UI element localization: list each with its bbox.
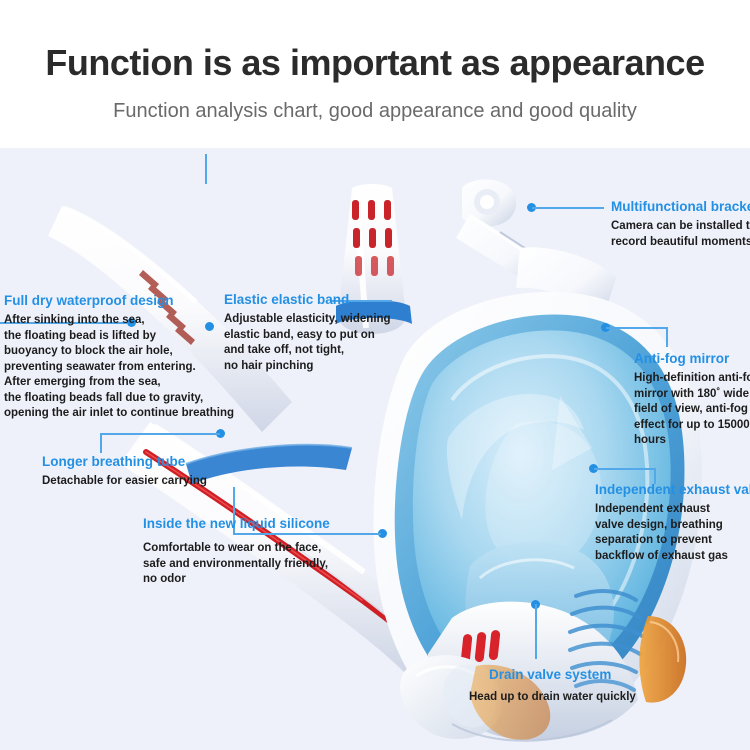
- callout-title: Independent exhaust valve: [595, 481, 750, 499]
- connector-line-exhaust-valve: [594, 468, 654, 470]
- callout-independent-exhaust-valve: Independent exhaust valve Independent ex…: [595, 481, 750, 564]
- callout-multifunctional-bracket: Multifunctional bracket Camera can be in…: [611, 198, 750, 250]
- callout-body: Camera can be installed to record beauti…: [611, 219, 750, 250]
- connector-line-bracket: [532, 207, 604, 209]
- callout-title: Elastic elastic band: [224, 291, 391, 309]
- callout-title: Longer breathing tube: [42, 453, 207, 471]
- head-strap: [186, 445, 352, 484]
- connector-line-breathing-tube: [100, 433, 220, 435]
- connector-line-anti-fog: [606, 327, 666, 329]
- callout-drain-valve-system: Drain valve system Head up to drain wate…: [489, 666, 636, 706]
- callout-body: Head up to drain water quickly: [469, 690, 636, 706]
- page-subtitle: Function analysis chart, good appearance…: [0, 98, 750, 124]
- callout-anti-fog-mirror: Anti-fog mirror High-definition anti-fog…: [634, 350, 750, 449]
- page-title: Function is as important as appearance: [0, 40, 750, 86]
- callout-longer-breathing-tube: Longer breathing tube Detachable for eas…: [42, 453, 207, 490]
- callout-elastic-elastic-band: Elastic elastic band Adjustable elastici…: [224, 291, 391, 374]
- infographic-canvas: Full dry waterproof design After sinking…: [0, 148, 750, 750]
- callout-title: Drain valve system: [489, 666, 636, 684]
- header: Function is as important as appearance F…: [0, 0, 750, 148]
- connector-stem-anti-fog: [666, 327, 668, 347]
- side-valve: [639, 616, 686, 703]
- callout-body: Independent exhaust valve design, breath…: [595, 502, 750, 564]
- callout-body: High-definition anti-fog mirror with 180…: [634, 371, 750, 449]
- camera-bracket: [456, 179, 616, 322]
- callout-title: Full dry waterproof design: [4, 292, 234, 310]
- callout-body: Adjustable elasticity, widening elastic …: [224, 312, 391, 374]
- callout-title: Anti-fog mirror: [634, 350, 750, 368]
- infographic-page: Function is as important as appearance F…: [0, 0, 750, 750]
- callout-full-dry-waterproof-design: Full dry waterproof design After sinking…: [4, 292, 234, 422]
- callout-body: After sinking into the sea, the floating…: [4, 313, 234, 422]
- connector-stem-elastic-band: [205, 154, 207, 184]
- intake-slots: [460, 630, 500, 665]
- connector-stem-drain-valve: [535, 604, 537, 659]
- callout-body: Detachable for easier carrying: [42, 474, 207, 490]
- callout-title: Inside the new liquid silicone: [143, 515, 330, 533]
- callout-inside-the-new-liquid-silicone: Inside the new liquid silicone Comfortab…: [143, 515, 330, 588]
- callout-title: Multifunctional bracket: [611, 198, 750, 216]
- callout-body: Comfortable to wear on the face, safe an…: [143, 541, 330, 588]
- connector-stem-breathing-tube: [100, 433, 102, 453]
